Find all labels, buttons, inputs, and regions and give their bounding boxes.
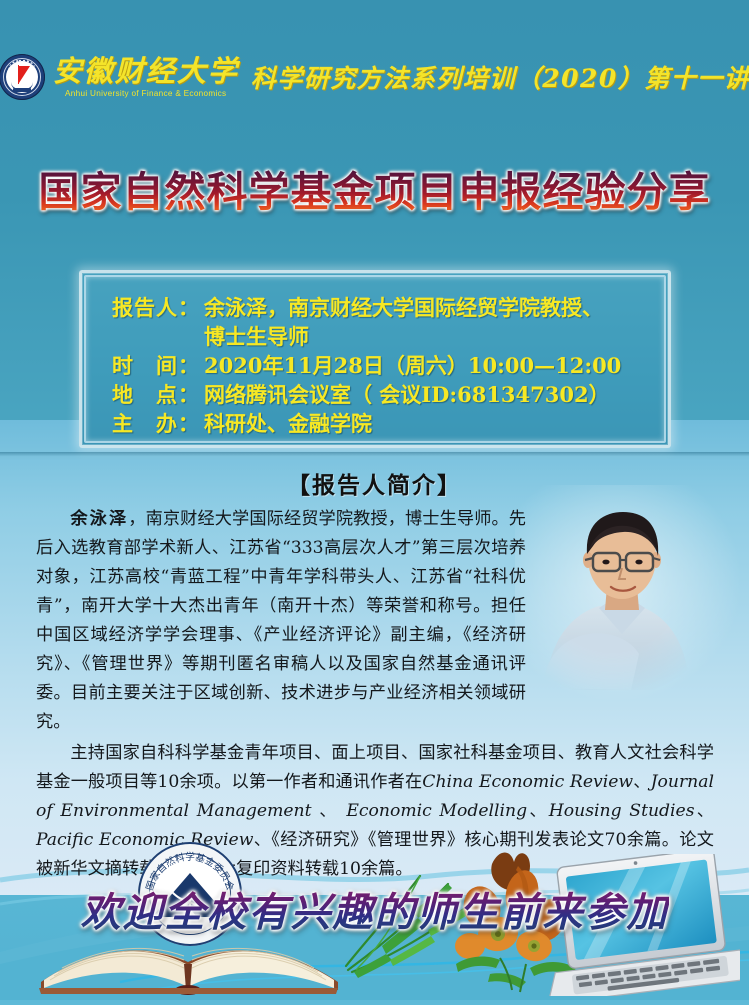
page-title-text: 国家自然科学基金项目申报经验分享 (39, 168, 711, 216)
section-divider (0, 452, 749, 460)
bio-heading-text: 【报告人简介】 (287, 472, 462, 499)
info-label-time: 时 间： (112, 351, 204, 380)
info-row-organizer: 主 办： 科研处、金融学院 (112, 409, 642, 438)
welcome-message-text: 欢迎全校有兴趣的师生前来参加 (81, 889, 669, 936)
info-label-location: 地 点： (112, 380, 204, 409)
welcome-message: 欢迎全校有兴趣的师生前来参加 (0, 880, 749, 938)
info-label-spacer (112, 322, 204, 351)
info-row-time: 时 间： 2020年11月28日（周六）10:00—12:00 (112, 351, 642, 380)
bio-paragraph-1-rest: ，南京财经大学国际经贸学院教授，博士生导师。先后入选教育部学术新人、江苏省“33… (36, 509, 526, 732)
anhui-ufe-sail-logo-icon (0, 54, 45, 100)
info-row-location: 地 点： 网络腾讯会议室（ 会议ID:681347302） (112, 380, 642, 409)
info-row-speaker-continued: 博士生导师 (112, 322, 642, 351)
info-value-speaker: 余泳泽，南京财经大学国际经贸学院教授、 (204, 293, 642, 322)
journal-name-1: China Economic Review (422, 772, 633, 792)
page-title: 国家自然科学基金项目申报经验分享 (0, 158, 749, 218)
info-value-time: 2020年11月28日（周六）10:00—12:00 (204, 351, 642, 380)
series-title: 科学研究方法系列培训（2020）第十一讲 (251, 59, 749, 95)
bio-speaker-name: 余泳泽 (70, 509, 128, 529)
info-label-speaker: 报告人： (112, 293, 204, 322)
poster-root: 安徽财经大学 Anhui University of Finance & Eco… (0, 0, 749, 1005)
info-value-location: 网络腾讯会议室（ 会议ID:681347302） (204, 380, 642, 409)
info-label-organizer: 主 办： (112, 409, 204, 438)
university-name-en: Anhui University of Finance & Economics (65, 89, 226, 98)
event-info-box: 报告人： 余泳泽，南京财经大学国际经贸学院教授、 博士生导师 时 间： 2020… (79, 270, 671, 448)
header-banner: 安徽财经大学 Anhui University of Finance & Eco… (0, 46, 749, 108)
info-value-speaker-continued: 博士生导师 (204, 322, 642, 351)
university-name-cn: 安徽财经大学 (53, 57, 239, 86)
bio-paragraph-1: 余泳泽，南京财经大学国际经贸学院教授，博士生导师。先后入选教育部学术新人、江苏省… (36, 505, 526, 737)
info-row-speaker: 报告人： 余泳泽，南京财经大学国际经贸学院教授、 (112, 293, 642, 322)
info-value-organizer: 科研处、金融学院 (204, 409, 642, 438)
university-name-block: 安徽财经大学 Anhui University of Finance & Eco… (53, 57, 239, 98)
